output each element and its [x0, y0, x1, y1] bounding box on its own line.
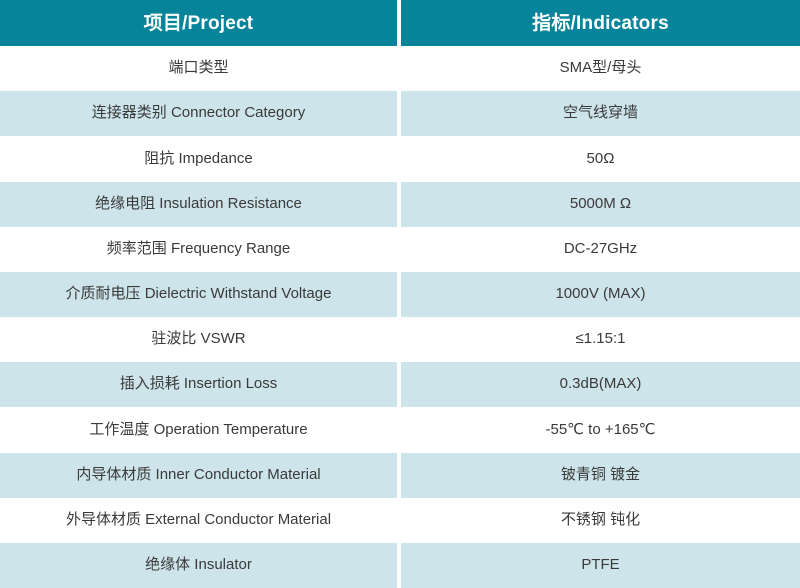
cell-project: 频率范围 Frequency Range — [0, 227, 397, 272]
cell-indicator: -55℃ to +165℃ — [401, 407, 800, 452]
column-header-project: 项目/Project — [0, 0, 397, 46]
table-row: 内导体材质 Inner Conductor Material 铍青铜 镀金 — [0, 453, 800, 498]
cell-indicator: SMA型/母头 — [401, 46, 800, 91]
cell-indicator: ≤1.15:1 — [401, 317, 800, 362]
cell-project: 外导体材质 External Conductor Material — [0, 498, 397, 543]
cell-project: 绝缘电阻 Insulation Resistance — [0, 182, 397, 227]
column-header-indicators: 指标/Indicators — [401, 0, 800, 46]
table-row: 介质耐电压 Dielectric Withstand Voltage 1000V… — [0, 272, 800, 317]
cell-project: 插入损耗 Insertion Loss — [0, 362, 397, 407]
specification-table: 项目/Project 指标/Indicators 端口类型 SMA型/母头 连接… — [0, 0, 800, 588]
cell-indicator: 铍青铜 镀金 — [401, 453, 800, 498]
table-row: 驻波比 VSWR ≤1.15:1 — [0, 317, 800, 362]
table-row: 连接器类别 Connector Category 空气线穿墙 — [0, 91, 800, 136]
cell-indicator: 50Ω — [401, 136, 800, 181]
cell-project: 端口类型 — [0, 46, 397, 91]
table-row: 插入损耗 Insertion Loss 0.3dB(MAX) — [0, 362, 800, 407]
table-row: 频率范围 Frequency Range DC-27GHz — [0, 227, 800, 272]
table-row: 外导体材质 External Conductor Material 不锈钢 钝化 — [0, 498, 800, 543]
cell-indicator: 5000M Ω — [401, 182, 800, 227]
cell-project: 连接器类别 Connector Category — [0, 91, 397, 136]
table-row: 工作温度 Operation Temperature -55℃ to +165℃ — [0, 407, 800, 452]
cell-indicator: 0.3dB(MAX) — [401, 362, 800, 407]
table-row: 阻抗 Impedance 50Ω — [0, 136, 800, 181]
cell-indicator: 1000V (MAX) — [401, 272, 800, 317]
cell-indicator: 不锈钢 钝化 — [401, 498, 800, 543]
cell-project: 绝缘体 Insulator — [0, 543, 397, 588]
cell-indicator: PTFE — [401, 543, 800, 588]
cell-project: 驻波比 VSWR — [0, 317, 397, 362]
table-row: 端口类型 SMA型/母头 — [0, 46, 800, 91]
cell-indicator: DC-27GHz — [401, 227, 800, 272]
cell-project: 工作温度 Operation Temperature — [0, 407, 397, 452]
table-row: 绝缘体 Insulator PTFE — [0, 543, 800, 588]
table-body: 端口类型 SMA型/母头 连接器类别 Connector Category 空气… — [0, 46, 800, 588]
cell-project: 阻抗 Impedance — [0, 136, 397, 181]
table-header-row: 项目/Project 指标/Indicators — [0, 0, 800, 46]
cell-project: 介质耐电压 Dielectric Withstand Voltage — [0, 272, 397, 317]
cell-project: 内导体材质 Inner Conductor Material — [0, 453, 397, 498]
cell-indicator: 空气线穿墙 — [401, 91, 800, 136]
table-row: 绝缘电阻 Insulation Resistance 5000M Ω — [0, 182, 800, 227]
